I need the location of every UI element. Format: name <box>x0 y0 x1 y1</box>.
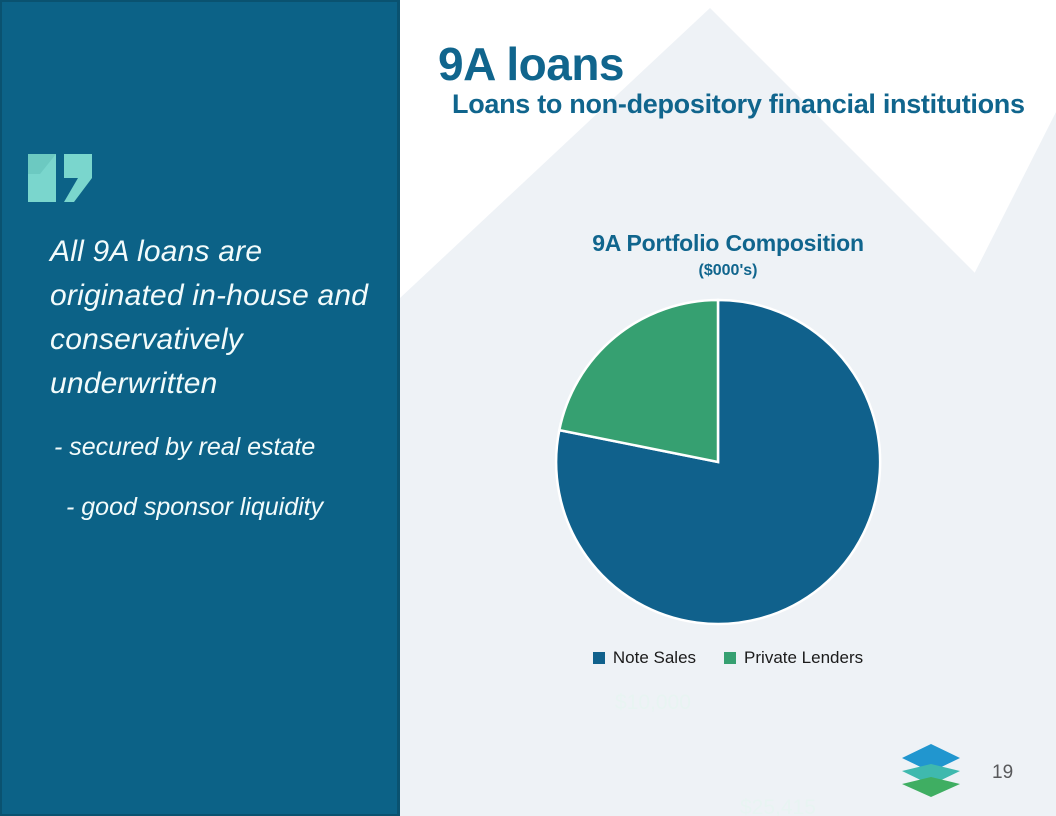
content-panel: 9A loans Loans to non-depository financi… <box>400 0 1056 816</box>
pie-chart: $10,000 $25,415 <box>400 288 1056 638</box>
slide-canvas: All 9A loans are originated in-house and… <box>0 0 1056 816</box>
chart-units-label: ($000's) <box>400 262 1056 280</box>
chart-legend: Note Sales Private Lenders <box>400 648 1056 668</box>
legend-swatch-icon <box>724 652 736 664</box>
legend-swatch-icon <box>593 652 605 664</box>
legend-item-note-sales[interactable]: Note Sales <box>593 648 696 668</box>
page-subtitle: Loans to non-depository financial instit… <box>452 86 1052 122</box>
legend-item-private-lenders[interactable]: Private Lenders <box>724 648 863 668</box>
pie-chart-svg <box>400 288 1056 638</box>
sidebar-quote-text: All 9A loans are originated in-house and… <box>50 230 380 406</box>
quote-mark-icon <box>26 152 96 204</box>
list-item: - secured by real estate <box>54 430 394 464</box>
legend-item-label: Note Sales <box>613 648 696 668</box>
sidebar-panel: All 9A loans are originated in-house and… <box>0 0 400 816</box>
sidebar-bullet-list: - secured by real estate - good sponsor … <box>54 430 394 550</box>
page-title: 9A loans <box>438 38 624 90</box>
legend-item-label: Private Lenders <box>744 648 863 668</box>
chart-title: 9A Portfolio Composition <box>400 230 1056 257</box>
page-number: 19 <box>992 762 1013 784</box>
list-item: - good sponsor liquidity <box>54 490 394 524</box>
stacked-layers-logo-icon <box>900 742 962 798</box>
